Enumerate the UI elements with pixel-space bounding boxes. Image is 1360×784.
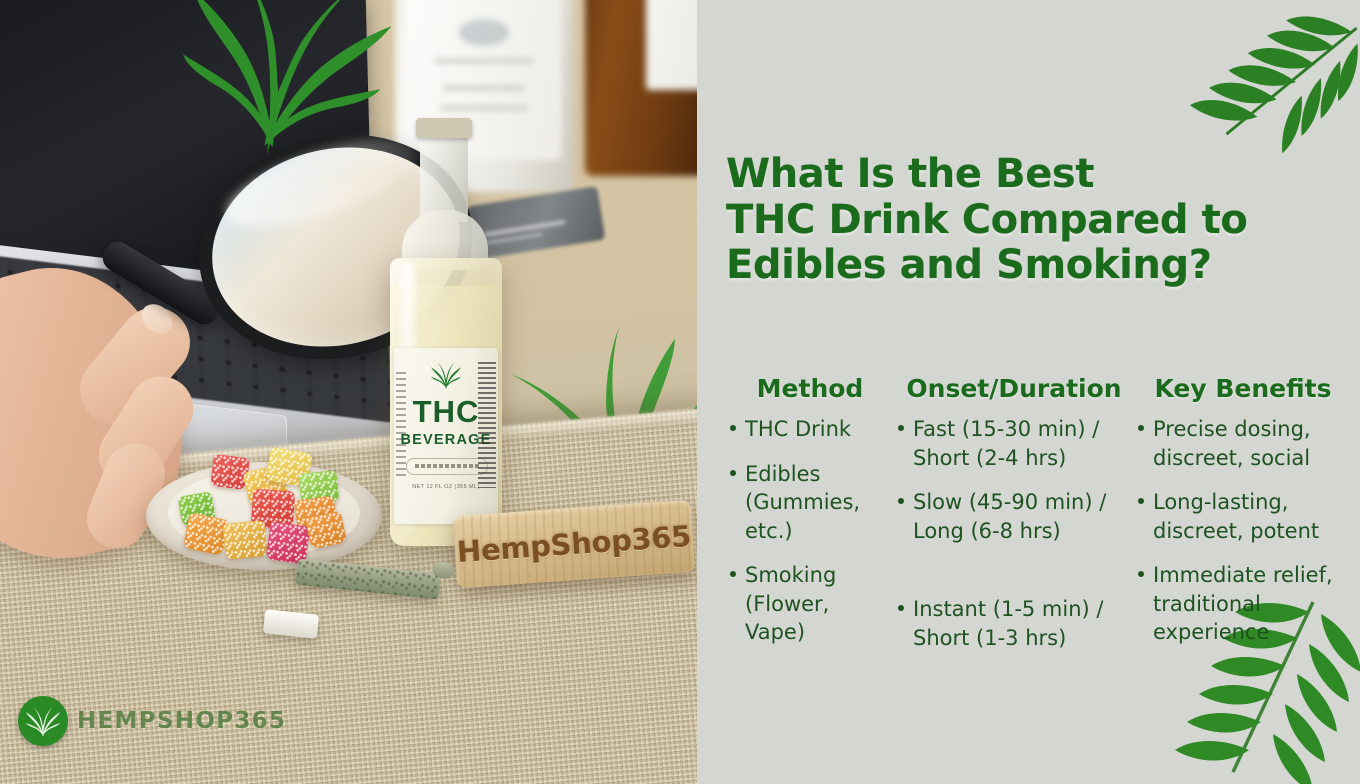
column-onset-duration: Fast (15-30 min) / Short (2-4 hrs) Slow … [894,415,1134,652]
background-bottle-amber [585,0,697,176]
list-item: Fast (15-30 min) / Short (2-4 hrs) [894,415,1130,472]
cannabis-leaf-icon [429,360,463,390]
column-header-onset-duration: Onset/Duration [894,374,1134,415]
list-item: Slow (45-90 min) / Long (6-8 hrs) [894,488,1130,545]
list-item: Edibles (Gummies, etc.) [726,460,890,546]
list-item: Precise dosing, discreet, social [1134,415,1348,472]
bottle-cap [416,118,472,138]
list-item: THC Drink [726,415,890,444]
title-line-1: What Is the Best [726,152,1346,198]
gummy [210,454,250,490]
logo-badge [18,696,68,746]
list-item: Immediate relief, traditional experience [1134,561,1348,647]
comparison-table: Method Onset/Duration Key Benefits THC D… [726,374,1352,652]
brand-logo[interactable]: HEMPSHOP365 [18,696,286,746]
barcode-icon [478,362,496,488]
page-title: What Is the Best THC Drink Compared to E… [726,152,1346,289]
thc-beverage-bottle: THC BEVERAGE NET 12 FL OZ (355 ML) [382,126,510,546]
logo-text: HEMPSHOP365 [77,708,286,734]
title-line-3: Edibles and Smoking? [726,243,1346,289]
gummy [266,521,311,564]
gummy [223,520,268,560]
fern-leaf-icon [1159,8,1360,158]
column-header-method: Method [726,374,894,415]
barcode-icon [396,372,406,476]
list-item: Long-lasting, discreet, potent [1134,488,1348,545]
bottle-label: THC BEVERAGE NET 12 FL OZ (355 ML) [394,348,498,524]
title-line-2: THC Drink Compared to [726,198,1346,244]
cannabis-leaf-icon [26,704,60,738]
list-item: Instant (1-5 min) / Short (1-3 hrs) [894,595,1130,652]
spacer [894,561,1130,595]
infographic-canvas: THC BEVERAGE NET 12 FL OZ (355 ML) HempS… [0,0,1360,784]
column-key-benefits: Precise dosing, discreet, social Long-la… [1134,415,1352,652]
list-item: Smoking (Flower, Vape) [726,561,890,647]
product-photo-panel: THC BEVERAGE NET 12 FL OZ (355 ML) HempS… [0,0,697,784]
column-method: THC Drink Edibles (Gummies, etc.) Smokin… [726,415,894,652]
column-header-key-benefits: Key Benefits [1134,374,1352,415]
